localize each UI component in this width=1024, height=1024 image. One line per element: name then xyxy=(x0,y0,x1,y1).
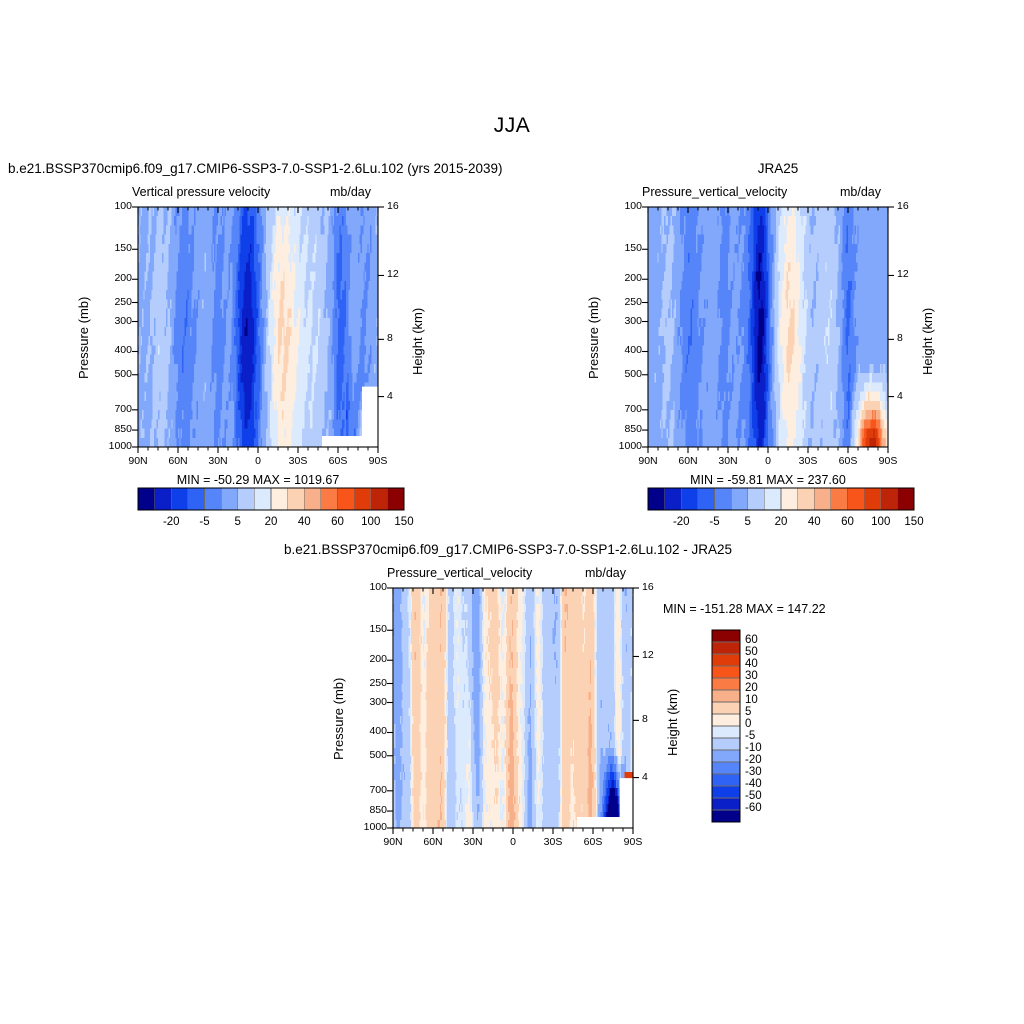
diff-colorbar-label-11: -30 xyxy=(745,766,775,778)
right-height-tick-12: 12 xyxy=(897,268,909,280)
right-pressure-tick-400: 400 xyxy=(600,344,642,356)
diff-lat-tick-60S: 60S xyxy=(575,836,611,848)
diff-pressure-tick-150: 150 xyxy=(345,623,387,635)
diff-pressure-tick-200: 200 xyxy=(345,653,387,665)
right-minmax-label: MIN = -59.81 MAX = 237.60 xyxy=(648,473,888,487)
diff-ylabel-height: Height (km) xyxy=(665,689,680,756)
right-units-label: mb/day xyxy=(840,185,881,199)
right-lat-tick-60N: 60N xyxy=(670,455,706,467)
diff-colorbar-label-9: -10 xyxy=(745,742,775,754)
right-lat-tick-60S: 60S xyxy=(830,455,866,467)
diff-minmax-label: MIN = -151.28 MAX = 147.22 xyxy=(663,602,826,616)
right-ylabel-height: Height (km) xyxy=(920,308,935,375)
diff-pressure-tick-250: 250 xyxy=(345,677,387,689)
season-title: JJA xyxy=(0,114,1024,138)
diff-colorbar-label-1: 50 xyxy=(745,646,775,658)
diff-field-name: Pressure_vertical_velocity xyxy=(387,566,532,580)
diff-colorbar xyxy=(0,0,1024,1024)
diff-colorbar-label-8: -5 xyxy=(745,730,775,742)
diff-pressure-tick-500: 500 xyxy=(345,749,387,761)
left-minmax-label: MIN = -50.29 MAX = 1019.67 xyxy=(138,473,378,487)
right-pressure-tick-200: 200 xyxy=(600,272,642,284)
diff-colorbar-label-4: 20 xyxy=(745,682,775,694)
diff-colorbar-label-13: -50 xyxy=(745,790,775,802)
diff-lat-tick-30S: 30S xyxy=(535,836,571,848)
left-pressure-tick-200: 200 xyxy=(90,272,132,284)
left-lat-tick-60N: 60N xyxy=(160,455,196,467)
left-height-tick-4: 4 xyxy=(387,390,393,402)
diff-lat-tick-0: 0 xyxy=(495,836,531,848)
diff-lat-tick-30N: 30N xyxy=(455,836,491,848)
left-lat-tick-0: 0 xyxy=(240,455,276,467)
right-pressure-tick-500: 500 xyxy=(600,368,642,380)
left-colorbar xyxy=(0,0,1024,1024)
diff-colorbar-label-10: -20 xyxy=(745,754,775,766)
right-pressure-tick-250: 250 xyxy=(600,296,642,308)
left-ylabel-height: Height (km) xyxy=(410,308,425,375)
left-lat-tick-60S: 60S xyxy=(320,455,356,467)
left-lat-tick-90N: 90N xyxy=(120,455,156,467)
right-panel-case-title: JRA25 xyxy=(648,161,908,176)
diff-lat-tick-90N: 90N xyxy=(375,836,411,848)
diff-height-tick-16: 16 xyxy=(642,581,654,593)
left-height-tick-16: 16 xyxy=(387,200,399,212)
right-pressure-tick-700: 700 xyxy=(600,403,642,415)
left-pressure-tick-1000: 1000 xyxy=(90,440,132,452)
diff-colorbar-label-7: 0 xyxy=(745,718,775,730)
diff-pressure-tick-850: 850 xyxy=(345,804,387,816)
left-pressure-tick-700: 700 xyxy=(90,403,132,415)
right-pressure-tick-850: 850 xyxy=(600,423,642,435)
left-height-tick-8: 8 xyxy=(387,332,393,344)
right-lat-tick-0: 0 xyxy=(750,455,786,467)
left-pressure-tick-100: 100 xyxy=(90,200,132,212)
right-colorbar-label-7: 150 xyxy=(892,516,936,528)
right-pressure-tick-150: 150 xyxy=(600,242,642,254)
diff-pressure-tick-400: 400 xyxy=(345,725,387,737)
left-lat-tick-90S: 90S xyxy=(360,455,396,467)
right-ylabel-pressure: Pressure (mb) xyxy=(586,297,601,379)
diff-colorbar-label-3: 30 xyxy=(745,670,775,682)
right-pressure-tick-100: 100 xyxy=(600,200,642,212)
left-pressure-tick-300: 300 xyxy=(90,315,132,327)
right-field-name: Pressure_vertical_velocity xyxy=(642,185,787,199)
diff-colorbar-label-2: 40 xyxy=(745,658,775,670)
right-lat-tick-30N: 30N xyxy=(710,455,746,467)
right-lat-tick-90S: 90S xyxy=(870,455,906,467)
left-colorbar-label-7: 150 xyxy=(382,516,426,528)
diff-pressure-tick-300: 300 xyxy=(345,696,387,708)
diff-units-label: mb/day xyxy=(585,566,626,580)
right-lat-tick-30S: 30S xyxy=(790,455,826,467)
left-pressure-tick-150: 150 xyxy=(90,242,132,254)
left-lat-tick-30S: 30S xyxy=(280,455,316,467)
diff-height-tick-4: 4 xyxy=(642,771,648,783)
diff-lat-tick-90S: 90S xyxy=(615,836,651,848)
left-pressure-tick-400: 400 xyxy=(90,344,132,356)
diff-colorbar-label-14: -60 xyxy=(745,802,775,814)
diff-colorbar-label-0: 60 xyxy=(745,634,775,646)
left-pressure-tick-250: 250 xyxy=(90,296,132,308)
left-ylabel-pressure: Pressure (mb) xyxy=(76,297,91,379)
right-colorbar xyxy=(0,0,1024,1024)
right-panel-plot xyxy=(0,0,1024,1024)
left-pressure-tick-500: 500 xyxy=(90,368,132,380)
diff-pressure-tick-700: 700 xyxy=(345,784,387,796)
diff-panel-plot xyxy=(0,0,1024,1024)
diff-colorbar-label-12: -40 xyxy=(745,778,775,790)
right-pressure-tick-1000: 1000 xyxy=(600,440,642,452)
diff-colorbar-label-6: 5 xyxy=(745,706,775,718)
left-panel-plot xyxy=(0,0,1024,1024)
left-field-name: Vertical pressure velocity xyxy=(132,185,270,199)
diff-pressure-tick-100: 100 xyxy=(345,581,387,593)
right-lat-tick-90N: 90N xyxy=(630,455,666,467)
left-units-label: mb/day xyxy=(330,185,371,199)
left-lat-tick-30N: 30N xyxy=(200,455,236,467)
right-height-tick-8: 8 xyxy=(897,332,903,344)
diff-ylabel-pressure: Pressure (mb) xyxy=(331,678,346,760)
diff-panel-case-title: b.e21.BSSP370cmip6.f09_g17.CMIP6-SSP3-7.… xyxy=(284,542,732,557)
right-height-tick-4: 4 xyxy=(897,390,903,402)
right-pressure-tick-300: 300 xyxy=(600,315,642,327)
diff-lat-tick-60N: 60N xyxy=(415,836,451,848)
diff-colorbar-label-5: 10 xyxy=(745,694,775,706)
diff-height-tick-12: 12 xyxy=(642,649,654,661)
diff-pressure-tick-1000: 1000 xyxy=(345,821,387,833)
left-height-tick-12: 12 xyxy=(387,268,399,280)
right-height-tick-16: 16 xyxy=(897,200,909,212)
left-panel-case-title: b.e21.BSSP370cmip6.f09_g17.CMIP6-SSP3-7.… xyxy=(8,161,503,176)
diff-height-tick-8: 8 xyxy=(642,713,648,725)
left-pressure-tick-850: 850 xyxy=(90,423,132,435)
